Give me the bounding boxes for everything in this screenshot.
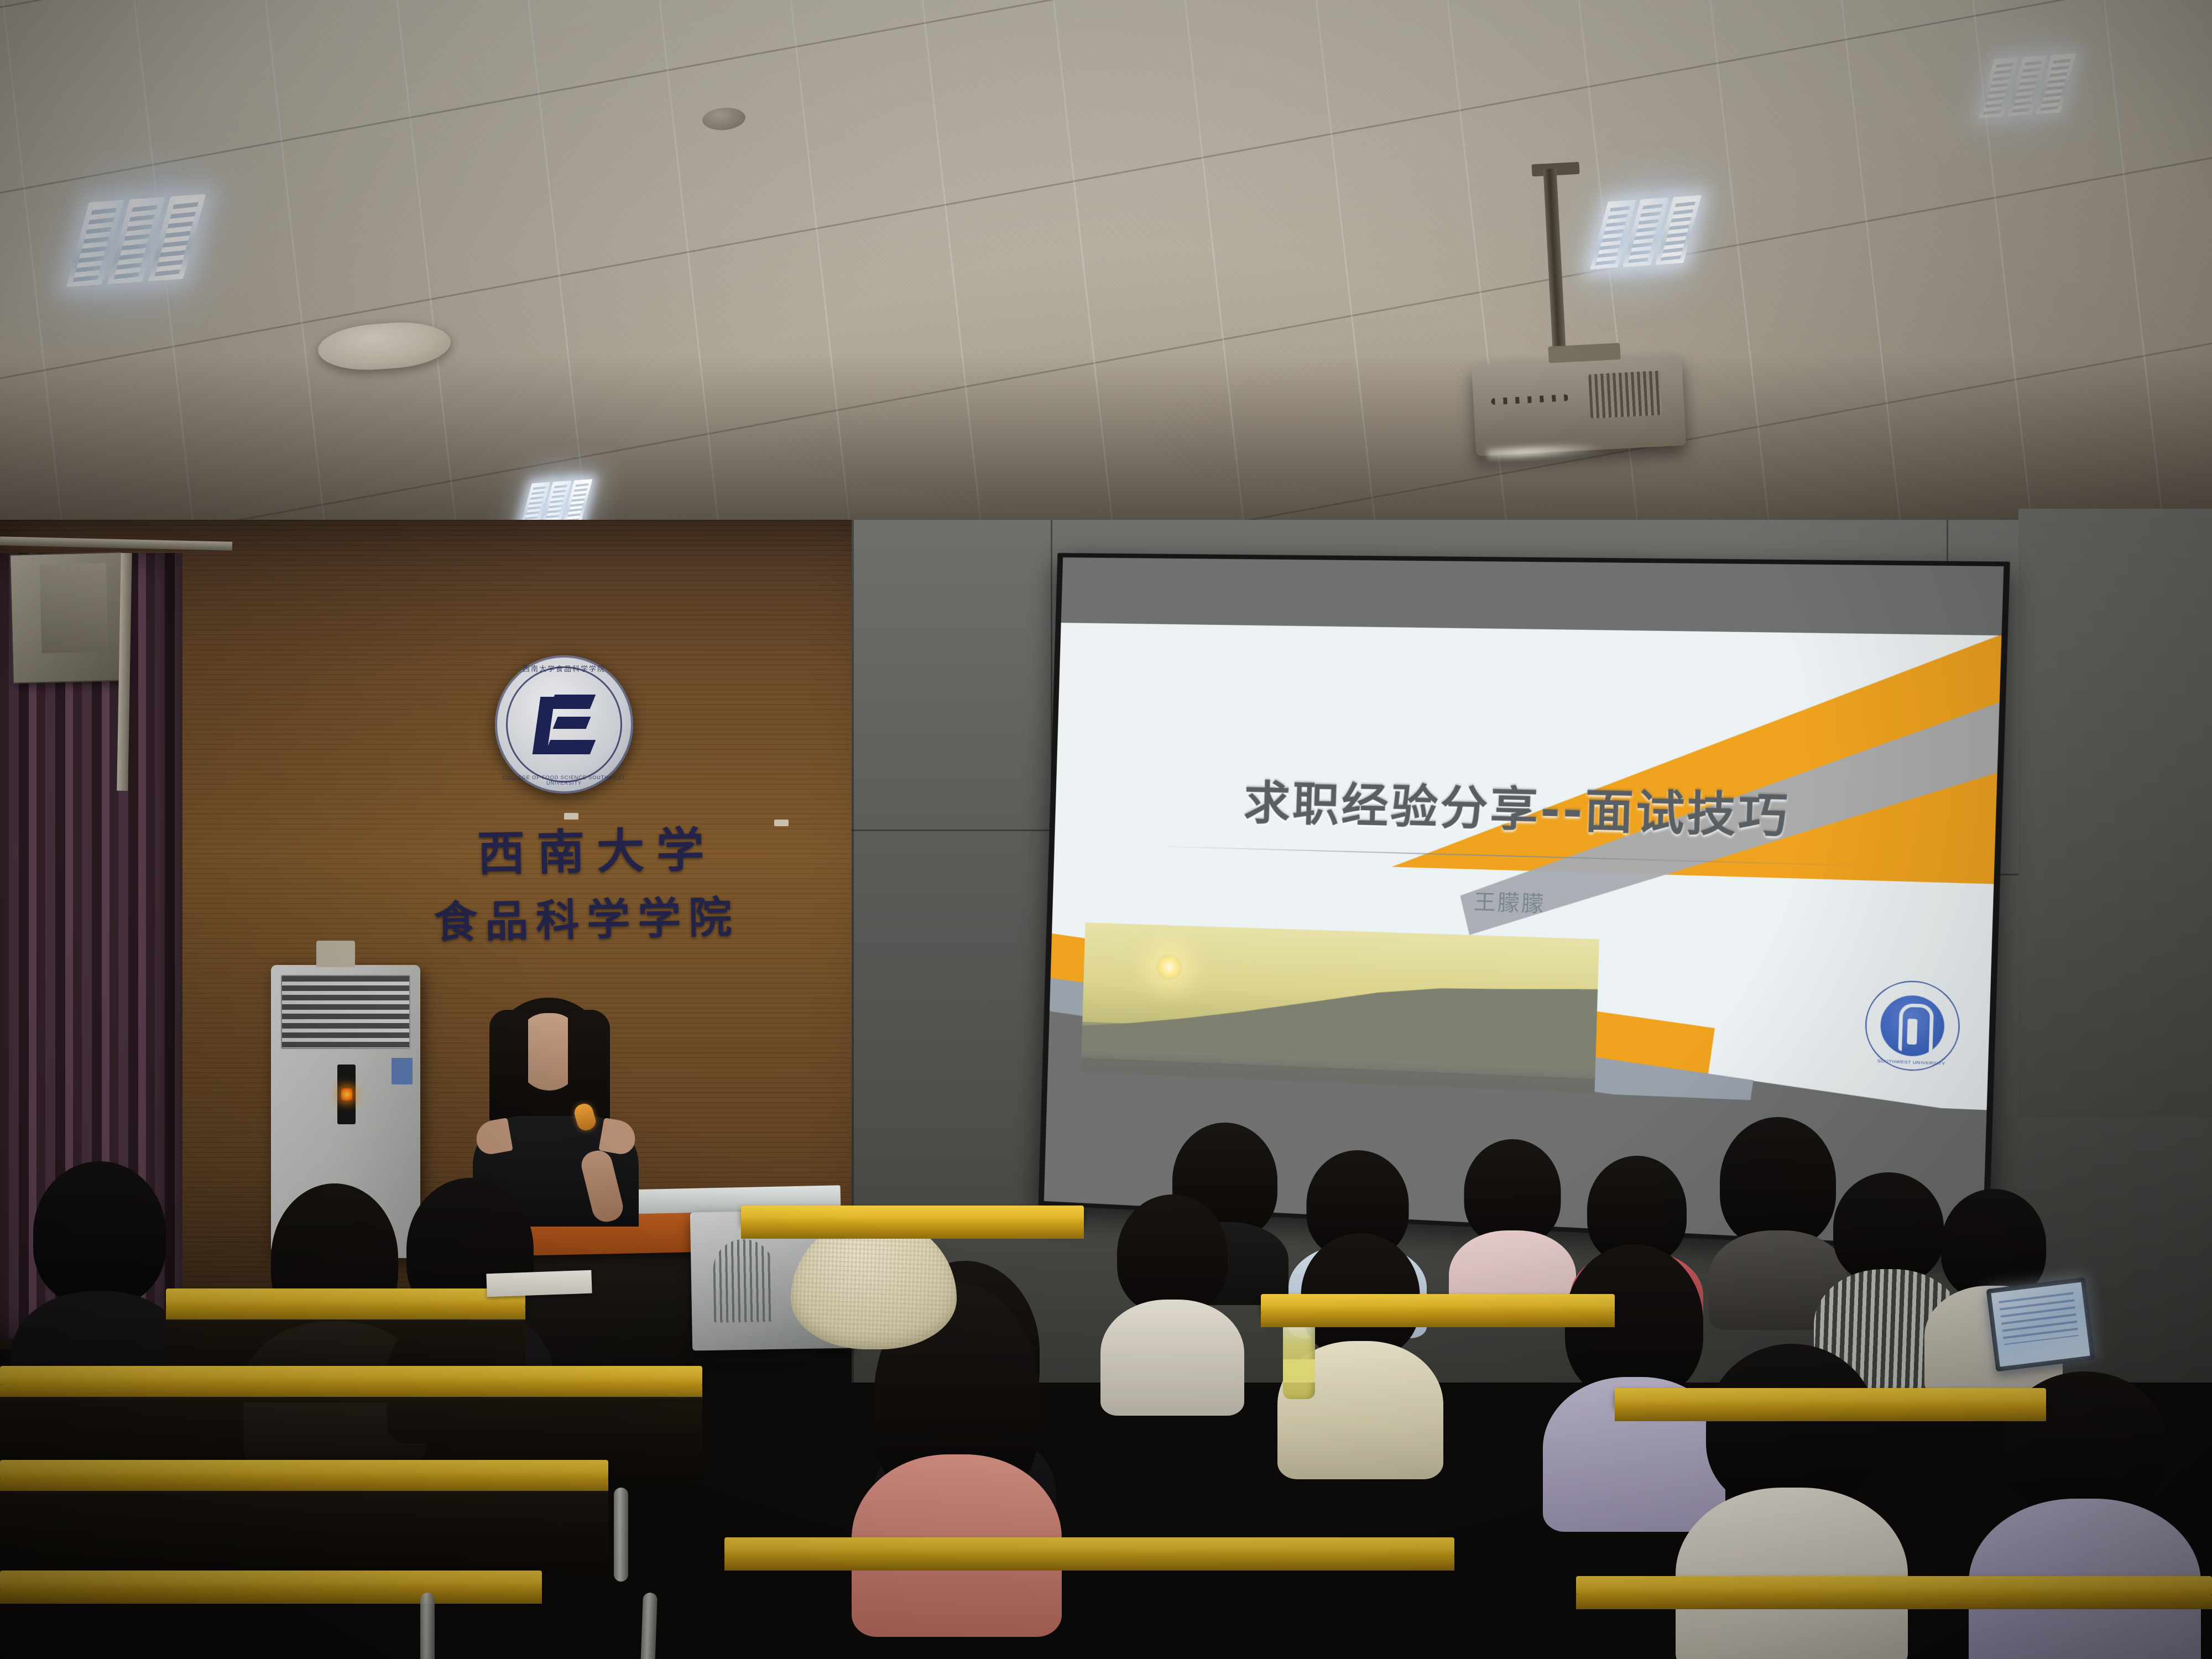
- fluorescent-troffer-1-icon: [75, 195, 197, 286]
- emblem-ring-en-text: COLLEGE OF FOOD SCIENCE SOUTHWEST UNIVER…: [495, 775, 633, 786]
- desk-row-left-2: [0, 1366, 702, 1399]
- desk-row-mid-right: [1261, 1294, 1615, 1327]
- desk-row-right-front: [1576, 1576, 2212, 1609]
- desk-leg-2: [640, 1593, 658, 1659]
- fluorescent-troffer-4-icon: [1984, 54, 2070, 117]
- logo-ring-text: SOUTHWEST UNIVERSITY: [1865, 1058, 1957, 1067]
- wall-calligraphy: 西南大学 食品科学学院: [425, 810, 770, 951]
- fluorescent-troffer-3-icon: [1597, 196, 1695, 269]
- wall-college-name: 食品科学学院: [404, 883, 770, 951]
- ac-display: [337, 1065, 356, 1124]
- desk-row-left-4: [0, 1571, 542, 1604]
- wall-speaker-icon: [9, 551, 126, 684]
- desk-row-center-front: [724, 1537, 1454, 1571]
- emblem-ring-cn-text: 西南大学食品科学学院: [495, 663, 633, 674]
- college-emblem-icon: 西南大学食品科学学院 COLLEGE OF FOOD SCIENCE SOUTH…: [495, 655, 633, 794]
- university-logo-icon: SOUTHWEST UNIVERSITY: [1864, 979, 1961, 1073]
- open-notebook-icon: [486, 1270, 592, 1297]
- desk-leg-3: [420, 1593, 435, 1659]
- desk-row-left-1: [166, 1288, 525, 1322]
- slide-photo: [1078, 922, 1599, 1110]
- tablet-device-icon[interactable]: [1986, 1277, 2095, 1372]
- desk-leg-1: [614, 1488, 628, 1582]
- audience-member-6: [1100, 1194, 1244, 1416]
- wall-university-name: 西南大学: [425, 810, 769, 885]
- desk-row-left-3: [0, 1460, 608, 1493]
- projector-icon: [1472, 354, 1686, 456]
- wall-clip-right: [774, 820, 789, 826]
- lecture-hall-photo: 西南大学食品科学学院 COLLEGE OF FOOD SCIENCE SOUTH…: [0, 0, 2212, 1659]
- desk-row-back-center: [741, 1206, 1084, 1239]
- ceiling: [0, 0, 2212, 586]
- desk-row-right: [1615, 1388, 2046, 1421]
- presentation-slide: 求职经验分享--面试技巧 王朦朦: [1048, 623, 2002, 1110]
- water-bottle-icon[interactable]: [1283, 1316, 1315, 1399]
- right-side-wall: [2018, 509, 2212, 1117]
